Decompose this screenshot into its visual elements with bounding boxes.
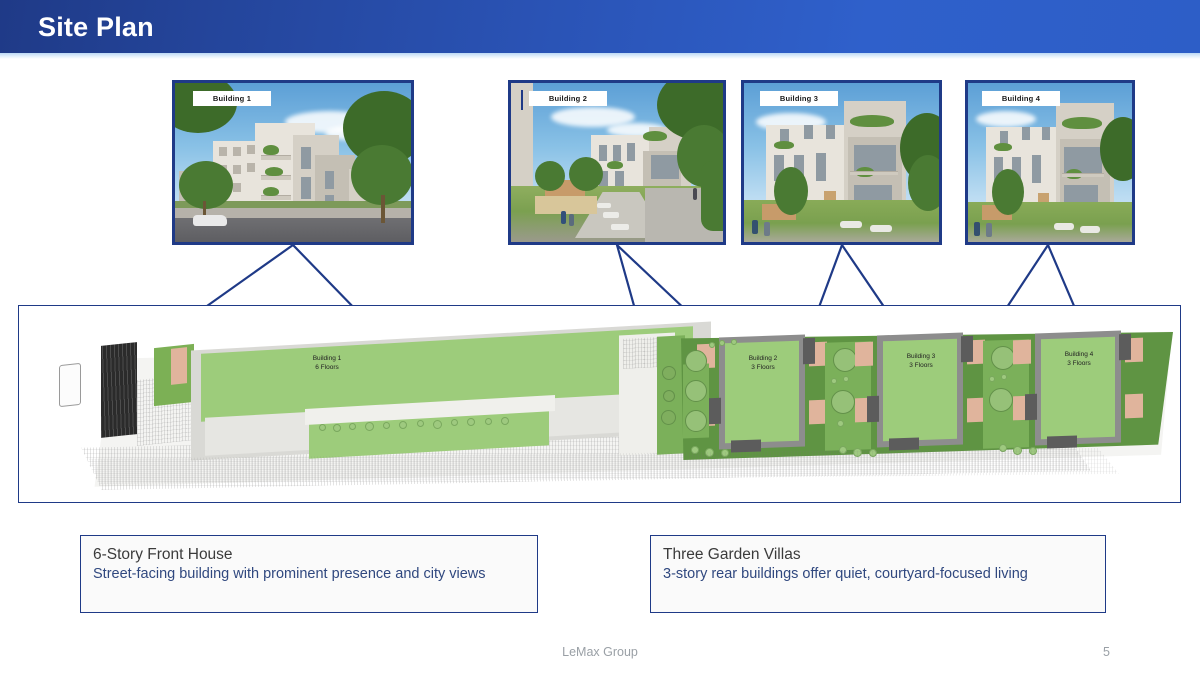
path-slab <box>1054 223 1074 230</box>
path-slab <box>840 221 862 228</box>
plan-tree <box>685 410 707 432</box>
photo-label-building-3: Building 3 <box>760 91 838 106</box>
caption-title: Three Garden Villas <box>663 545 1093 565</box>
window <box>816 153 826 181</box>
tree <box>908 155 942 211</box>
plan-block-floors: 3 Floors <box>751 364 774 371</box>
planting-dot <box>467 418 475 426</box>
terrace-area <box>171 347 187 385</box>
plan-block-name: Building 3 <box>907 353 936 360</box>
site-plan-panel[interactable]: Building 1 6 Floors Building 2 3 Floors <box>18 305 1181 503</box>
window <box>826 125 835 139</box>
entry-slab <box>1119 334 1131 360</box>
paving-dark-area <box>101 342 137 438</box>
plan-block-floors: 3 Floors <box>909 362 932 369</box>
entry-court-hatch <box>623 337 657 369</box>
planting-dot <box>831 378 837 384</box>
terrace-area <box>1125 394 1143 419</box>
tree <box>179 161 233 209</box>
entry-slab <box>867 396 879 422</box>
balcony-planting <box>263 145 279 155</box>
plan-block-name: Building 4 <box>1065 351 1094 358</box>
parked-car <box>193 215 227 226</box>
planting-dot <box>1001 374 1007 380</box>
balcony-planting <box>607 161 623 169</box>
window <box>233 183 241 192</box>
planting-dot <box>349 423 356 430</box>
path-slab <box>597 203 611 208</box>
planting-dot <box>399 421 407 429</box>
planting-dot <box>731 339 737 345</box>
photo-card-building-1[interactable]: Building 1 <box>172 80 414 245</box>
plan-block-name: Building 1 <box>313 355 342 362</box>
planting-dot <box>451 419 458 426</box>
photo-card-building-3[interactable]: Building 3 <box>741 80 942 245</box>
window <box>233 147 241 156</box>
tree <box>992 169 1024 215</box>
balcony-planting <box>265 167 283 176</box>
balcony-planting <box>774 141 794 149</box>
balcony-planting <box>994 143 1012 151</box>
photo-label-building-1: Building 1 <box>193 91 271 106</box>
planting-dot <box>417 420 424 427</box>
planting-dot <box>433 420 442 429</box>
photo-label-building-2: Building 2 <box>529 91 607 106</box>
roof-planting <box>850 115 894 127</box>
planting-dot <box>485 418 492 425</box>
planting-dot <box>843 376 849 382</box>
person-figure <box>569 214 574 226</box>
footer-page-number: 5 <box>1103 645 1110 659</box>
plan-tree <box>685 380 707 402</box>
tree <box>535 161 565 191</box>
window <box>804 125 813 139</box>
plan-tree <box>991 346 1015 370</box>
window <box>233 165 241 174</box>
window <box>599 145 607 161</box>
planting-dot <box>837 420 844 427</box>
window <box>247 163 255 172</box>
plan-tree <box>685 350 707 372</box>
planting-dot <box>333 424 341 432</box>
window <box>301 147 311 169</box>
plan-block-floors: 6 Floors <box>315 364 338 371</box>
site-plan-label-building-1: Building 1 6 Floors <box>267 354 387 373</box>
plan-tree <box>661 410 676 425</box>
plan-tree <box>663 390 675 402</box>
tree-trunk <box>381 195 385 223</box>
terrace-area <box>1013 340 1031 365</box>
caption-title: 6-Story Front House <box>93 545 525 565</box>
planting-dot <box>989 376 995 382</box>
path-slab <box>1080 226 1100 233</box>
planting-dot <box>501 417 509 425</box>
planting-dot <box>365 422 374 431</box>
footer-company-name: LeMax Group <box>0 645 1200 659</box>
label-accent-tick <box>521 90 523 110</box>
tree <box>774 167 808 215</box>
path-slab <box>870 225 892 232</box>
entry-slab <box>1047 435 1077 448</box>
window <box>325 171 334 189</box>
caption-body: 3-story rear buildings offer quiet, cour… <box>663 565 1093 584</box>
window <box>651 155 679 179</box>
photo-card-building-4[interactable]: Building 4 <box>965 80 1135 245</box>
entry-slab <box>709 398 721 424</box>
entry-slab <box>731 439 761 452</box>
caption-box-front-house[interactable]: 6-Story Front House Street-facing buildi… <box>80 535 538 613</box>
window <box>219 147 227 156</box>
entry-slab <box>1025 394 1037 420</box>
photo-card-building-2[interactable]: Building 2 <box>508 80 726 245</box>
person-figure <box>986 223 992 237</box>
playground-sand <box>535 196 597 214</box>
photo-label-building-4: Building 4 <box>982 91 1060 106</box>
planting-dot <box>319 424 326 431</box>
balcony-planting <box>263 187 279 196</box>
person-figure <box>974 222 980 236</box>
plan-tree <box>989 388 1013 412</box>
hedge <box>701 161 726 231</box>
header-underline <box>0 53 1200 59</box>
window <box>613 145 621 161</box>
plan-block-floors: 3 Floors <box>1067 360 1090 367</box>
window <box>1022 127 1030 140</box>
person-figure <box>764 222 770 236</box>
site-plan-drawing: Building 1 6 Floors Building 2 3 Floors <box>19 306 1180 502</box>
planting-dot <box>709 342 715 348</box>
window <box>301 177 311 199</box>
balcony <box>261 195 291 200</box>
entry-slab <box>889 437 919 450</box>
caption-body: Street-facing building with prominent pr… <box>93 565 525 584</box>
roof-planting <box>643 131 667 141</box>
slide-header-bar <box>0 0 1200 53</box>
path-slab <box>603 212 619 218</box>
parked-car-plan <box>59 363 81 407</box>
balcony <box>850 171 898 175</box>
window <box>247 145 255 154</box>
entry-slab <box>803 338 815 364</box>
terrace-area <box>855 342 873 367</box>
caption-box-garden-villas[interactable]: Three Garden Villas 3-story rear buildin… <box>650 535 1106 613</box>
cloud-shape <box>976 111 1036 127</box>
page-title: Site Plan <box>38 12 154 43</box>
plan-tree <box>662 366 676 380</box>
planting-dot <box>383 422 390 429</box>
window <box>627 143 635 161</box>
person-figure <box>752 220 758 234</box>
window <box>1032 155 1041 183</box>
balcony <box>261 155 291 160</box>
plan-tree <box>831 390 855 414</box>
plan-block-name: Building 2 <box>749 355 778 362</box>
path-slab <box>611 224 629 230</box>
roof-planting <box>1062 117 1102 129</box>
balcony <box>1062 173 1104 177</box>
window <box>1042 127 1050 140</box>
person-figure <box>561 211 566 224</box>
planting-dot <box>719 340 725 346</box>
entry-slab <box>961 336 973 362</box>
person-figure <box>693 188 697 200</box>
plan-tree <box>833 348 857 372</box>
tree <box>569 157 603 191</box>
